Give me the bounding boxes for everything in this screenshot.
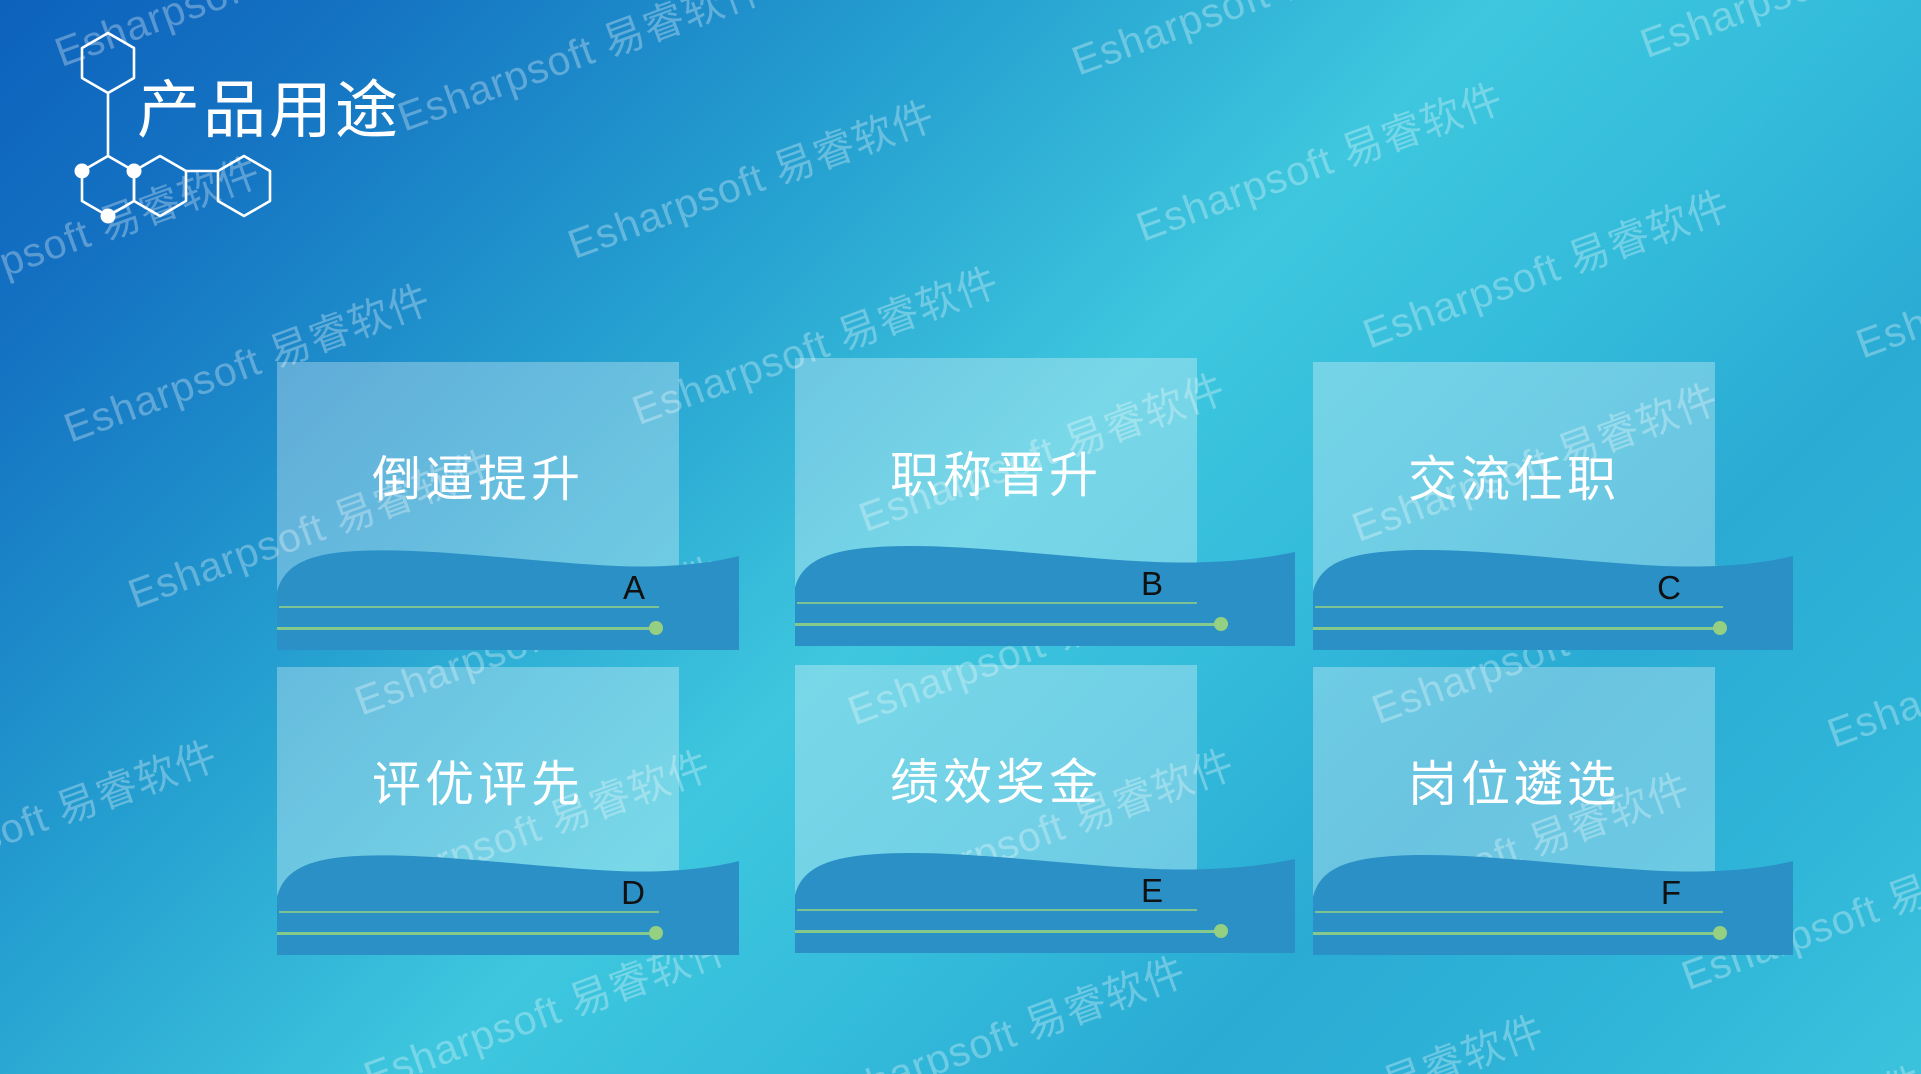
card-d[interactable]: 评优评先 D <box>277 667 679 935</box>
progress-rule-bottom <box>277 627 655 630</box>
progress-rule-bottom <box>795 623 1220 626</box>
page-title: 产品用途 <box>137 78 401 144</box>
card-letter: B <box>1141 567 1163 600</box>
card-label: 评优评先 <box>277 745 679 816</box>
card-letter: C <box>1657 571 1681 604</box>
wave-shape-icon <box>277 845 739 955</box>
progress-rule-bottom <box>277 932 655 935</box>
card-label: 倒逼提升 <box>277 440 679 511</box>
slide-canvas: Esharpsoft 易睿软件 Esharpsoft 易睿软件 Esharpso… <box>0 0 1921 1074</box>
progress-dot <box>649 926 663 940</box>
card-letter: F <box>1661 876 1681 909</box>
card-letter: E <box>1141 874 1163 907</box>
progress-rule-top <box>797 909 1197 911</box>
progress-dot <box>1214 924 1228 938</box>
wave-shape-icon <box>277 540 739 650</box>
card-label: 岗位遴选 <box>1313 745 1715 816</box>
card-e[interactable]: 绩效奖金 E <box>795 665 1197 933</box>
progress-rule-top <box>279 911 659 913</box>
progress-rule-bottom <box>1313 932 1719 935</box>
progress-dot <box>649 621 663 635</box>
progress-rule-bottom <box>1313 627 1719 630</box>
progress-rule-top <box>1315 911 1723 913</box>
card-c[interactable]: 交流任职 C <box>1313 362 1715 630</box>
progress-dot <box>1713 621 1727 635</box>
card-a[interactable]: 倒逼提升 A <box>277 362 679 630</box>
progress-rule-top <box>797 602 1197 604</box>
card-f[interactable]: 岗位遴选 F <box>1313 667 1715 935</box>
progress-dot <box>1713 926 1727 940</box>
progress-rule-bottom <box>795 930 1220 933</box>
card-label: 职称晋升 <box>795 436 1197 507</box>
card-letter: A <box>623 571 645 604</box>
card-label: 交流任职 <box>1313 440 1715 511</box>
card-b[interactable]: 职称晋升 B <box>795 358 1197 626</box>
progress-rule-top <box>279 606 659 608</box>
card-label: 绩效奖金 <box>795 743 1197 814</box>
card-letter: D <box>621 876 645 909</box>
progress-rule-top <box>1315 606 1723 608</box>
progress-dot <box>1214 617 1228 631</box>
